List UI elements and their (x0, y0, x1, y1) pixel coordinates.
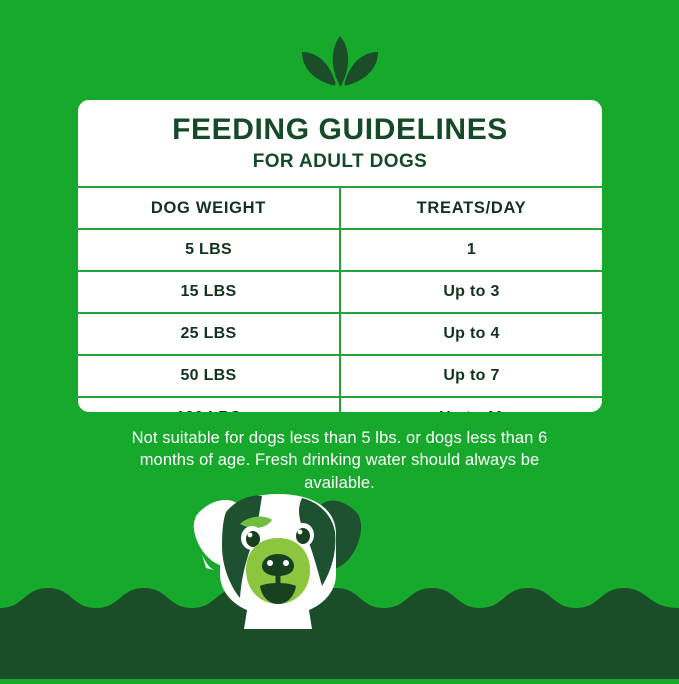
page-title: FEEDING GUIDELINES (172, 115, 508, 145)
feeding-guidelines-card: FEEDING GUIDELINES FOR ADULT DOGS DOG WE… (76, 98, 604, 414)
cell-treats-per-day: 1 (340, 229, 602, 271)
dog-face-illustration (190, 494, 366, 629)
cell-dog-weight: 25 LBS (78, 313, 340, 355)
card-header: FEEDING GUIDELINES FOR ADULT DOGS (78, 100, 602, 186)
cell-dog-weight: 50 LBS (78, 355, 340, 397)
feeding-guidelines-panel: FEEDING GUIDELINES FOR ADULT DOGS DOG WE… (0, 0, 679, 679)
cell-dog-weight: 5 LBS (78, 229, 340, 271)
cell-treats-per-day: Up to 7 (340, 355, 602, 397)
table-header-row: DOG WEIGHT TREATS/DAY (78, 187, 602, 229)
disclaimer-text: Not suitable for dogs less than 5 lbs. o… (105, 427, 575, 494)
leaf-logo (280, 34, 400, 90)
page-subtitle: FOR ADULT DOGS (253, 152, 427, 171)
table-row: 25 LBS Up to 4 (78, 313, 602, 355)
table-row: 15 LBS Up to 3 (78, 271, 602, 313)
cell-treats-per-day: Up to 3 (340, 271, 602, 313)
feeding-table: DOG WEIGHT TREATS/DAY 5 LBS 1 15 LBS Up … (78, 186, 602, 414)
cell-treats-per-day: Up to 4 (340, 313, 602, 355)
table-row: 100 LBS Up to 11 (78, 397, 602, 414)
column-header-treats-per-day: TREATS/DAY (340, 187, 602, 229)
table-row: 5 LBS 1 (78, 229, 602, 271)
column-header-dog-weight: DOG WEIGHT (78, 187, 340, 229)
cell-dog-weight: 100 LBS (78, 397, 340, 414)
cell-treats-per-day: Up to 11 (340, 397, 602, 414)
cell-dog-weight: 15 LBS (78, 271, 340, 313)
table-row: 50 LBS Up to 7 (78, 355, 602, 397)
